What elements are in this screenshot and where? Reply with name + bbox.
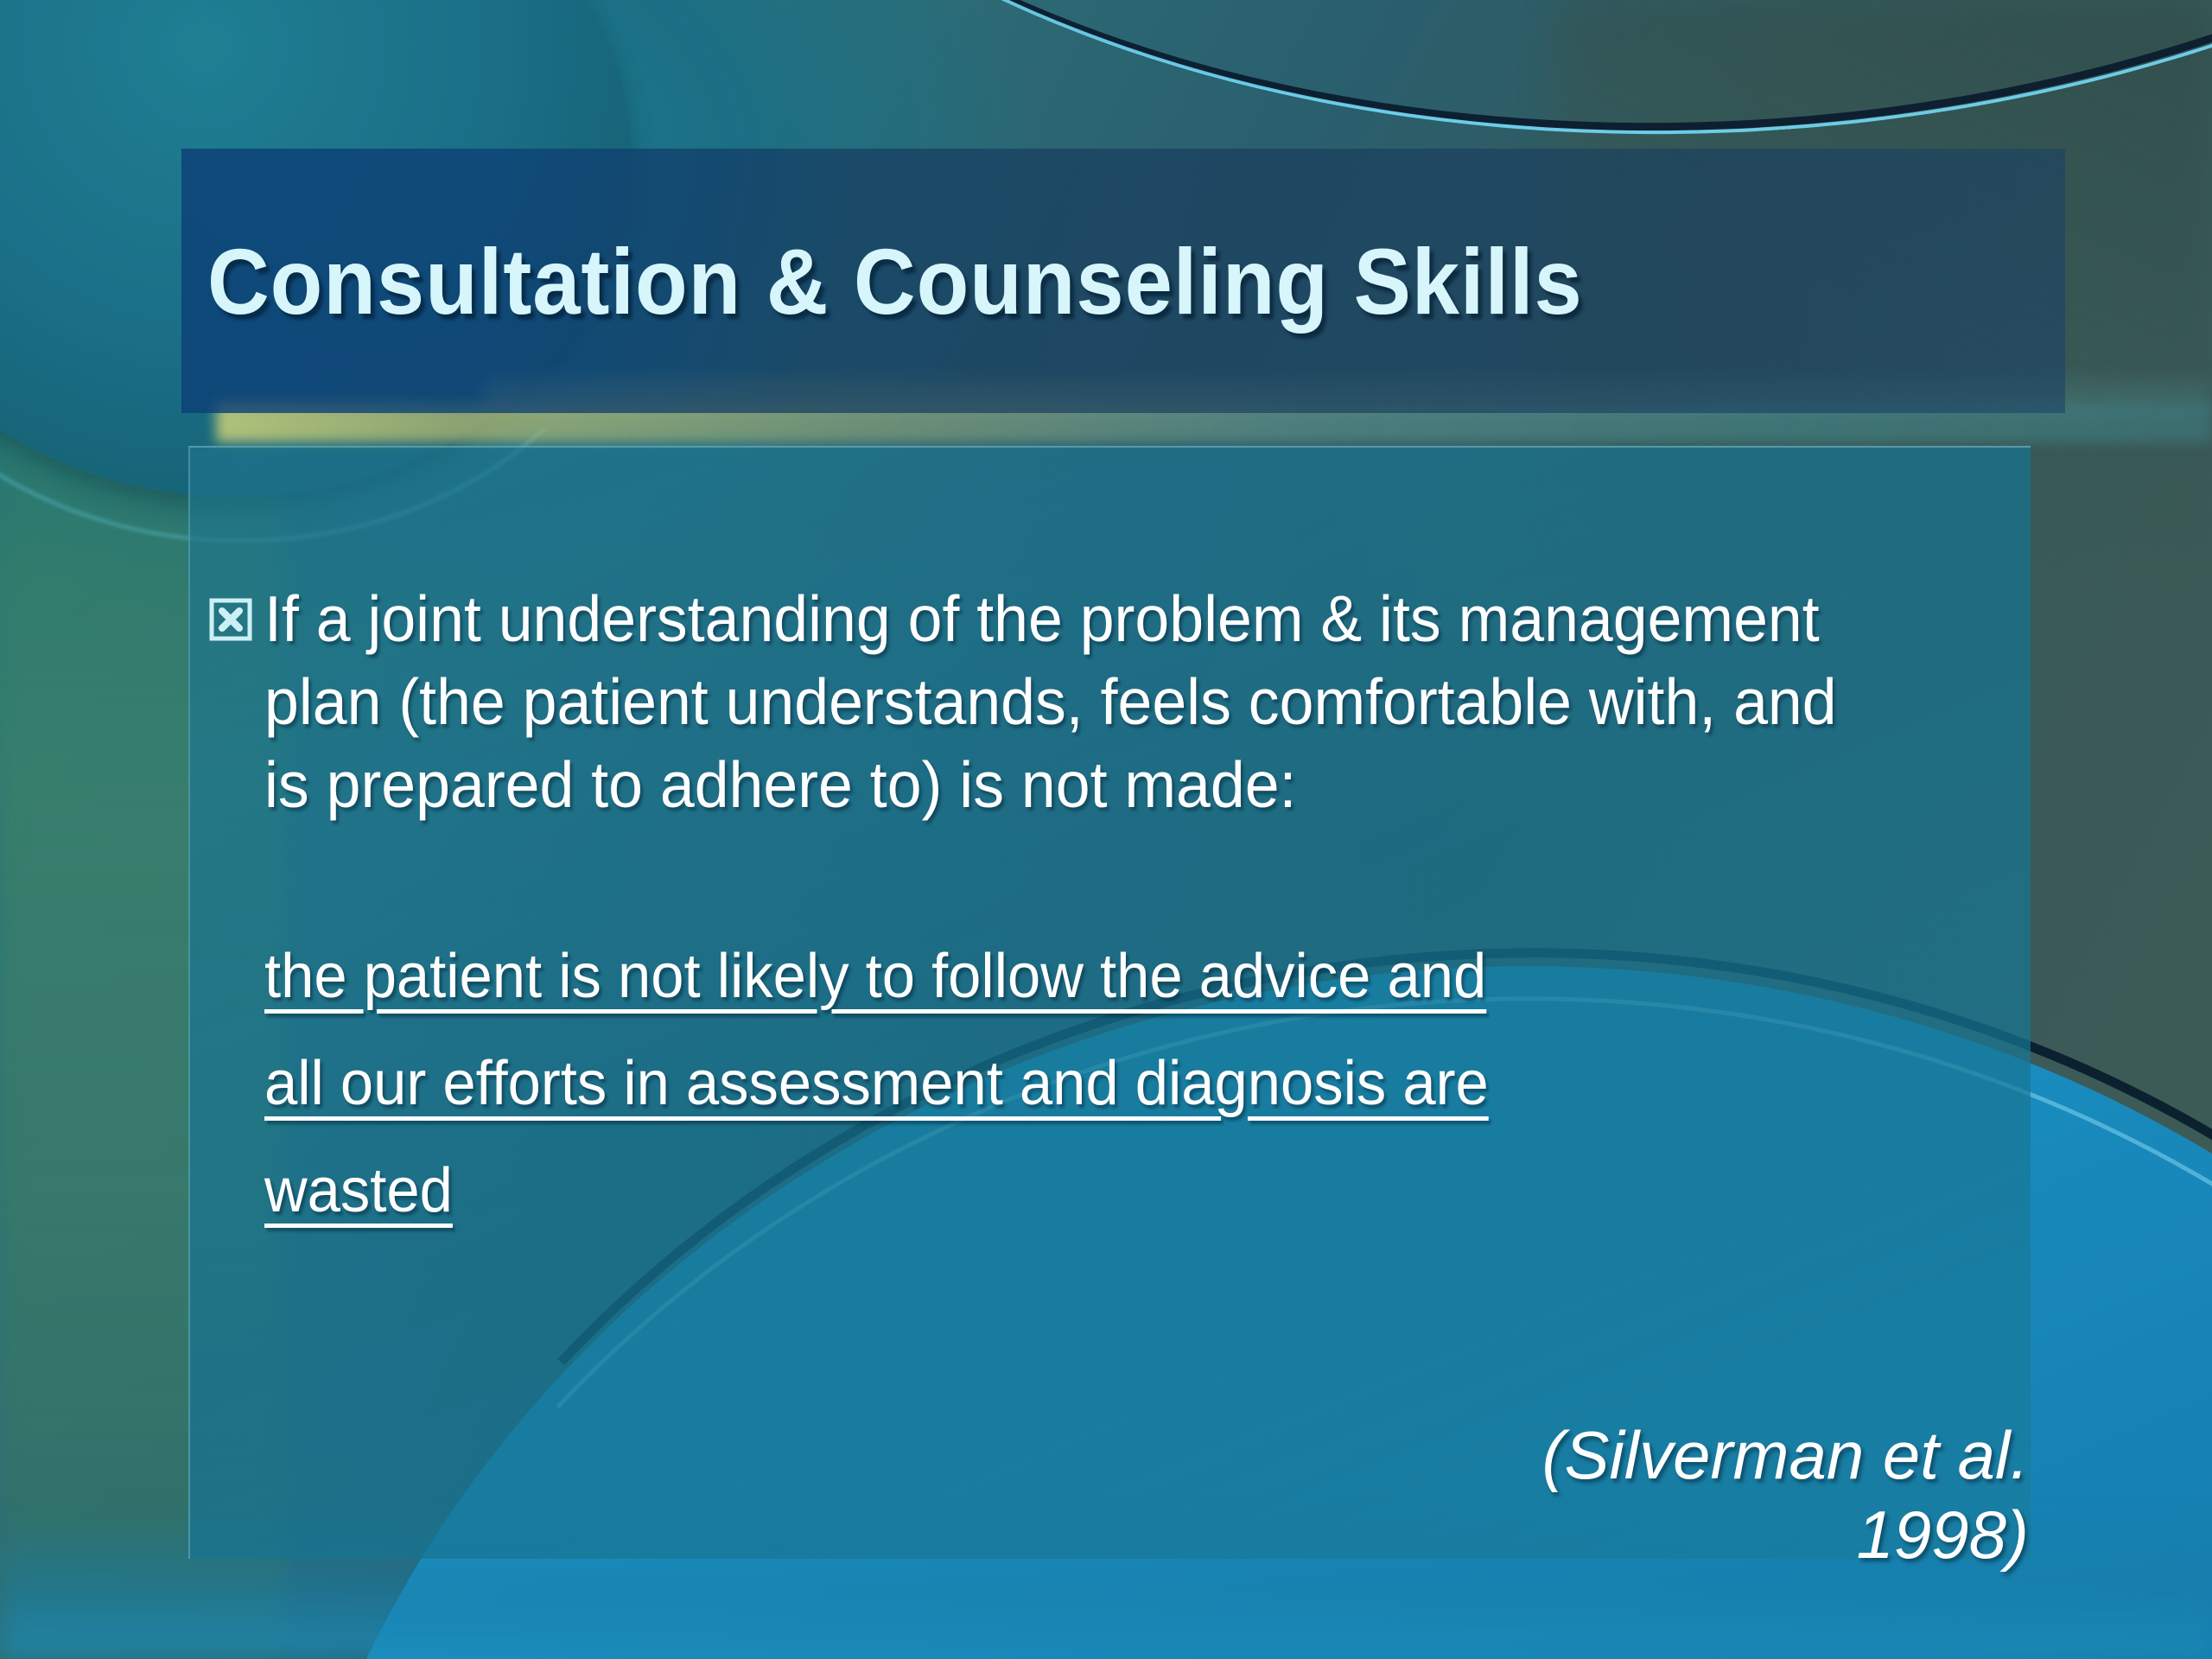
emphasis-line-3: wasted bbox=[264, 1160, 453, 1222]
emphasis-line-1-wrap: the patient is not likely to follow the … bbox=[264, 945, 1923, 1052]
citation-line-2: 1998) bbox=[992, 1495, 2029, 1574]
emphasis-block: the patient is not likely to follow the … bbox=[264, 945, 1923, 1267]
emphasis-line-1: the patient is not likely to follow the … bbox=[264, 945, 1486, 1007]
emphasis-line-2: all our efforts in assessment and diagno… bbox=[264, 1052, 1489, 1115]
slide-title-bar: Consultation & Counseling Skills bbox=[181, 149, 2065, 413]
emphasis-line-2-wrap: all our efforts in assessment and diagno… bbox=[264, 1052, 1923, 1160]
bullet-item: If a joint understanding of the problem … bbox=[209, 577, 1972, 826]
slide-body: If a joint understanding of the problem … bbox=[209, 577, 1972, 1267]
citation: (Silverman et al. 1998) bbox=[992, 1415, 2029, 1574]
citation-line-1: (Silverman et al. bbox=[992, 1415, 2029, 1495]
emphasis-line-3-wrap: wasted bbox=[264, 1160, 1923, 1267]
boxed-x-bullet-icon bbox=[209, 598, 254, 641]
presentation-slide: Consultation & Counseling Skills If a jo… bbox=[0, 0, 2212, 1659]
bullet-item-text: If a joint understanding of the problem … bbox=[264, 577, 1895, 826]
slide-title: Consultation & Counseling Skills bbox=[207, 227, 1583, 335]
